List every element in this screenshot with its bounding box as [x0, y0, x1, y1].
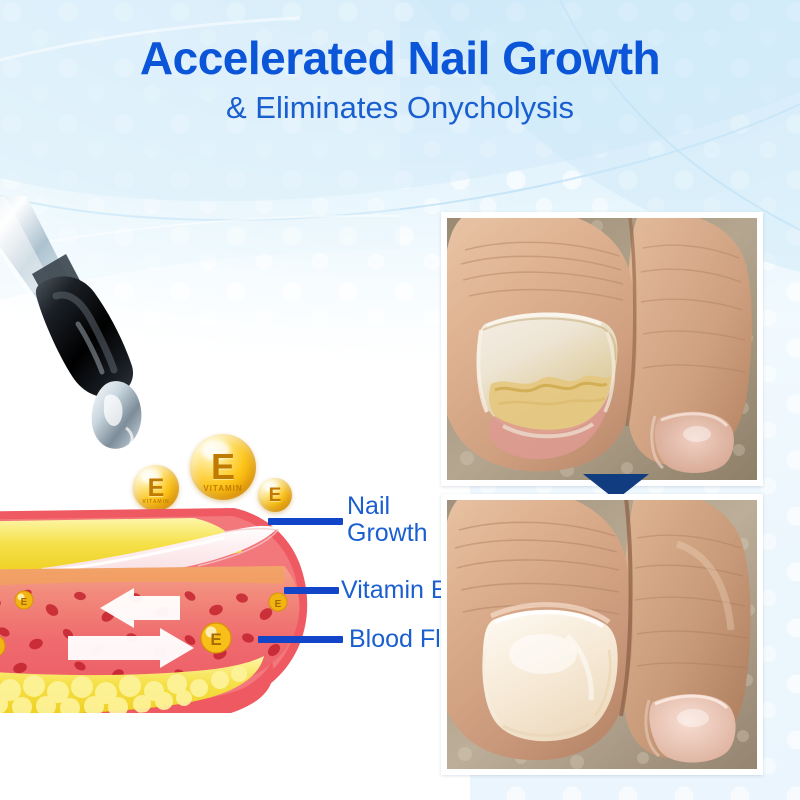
callout-label: Nail Growth	[347, 493, 428, 546]
callout-leader-line	[258, 636, 343, 643]
promo-page: Accelerated Nail Growth & Eliminates Ony…	[0, 0, 800, 800]
svg-text:E: E	[275, 599, 282, 610]
after-photo	[447, 500, 757, 769]
capsule-letter: E	[211, 449, 235, 485]
callout-label: Vitamin E	[341, 577, 448, 604]
callout-leader-line	[268, 518, 343, 525]
header: Accelerated Nail Growth & Eliminates Ony…	[0, 34, 800, 126]
after-photo-frame	[441, 494, 763, 775]
before-photo-frame	[441, 212, 763, 486]
nail-bed-cross-section: E E E E	[0, 498, 314, 713]
svg-text:E: E	[21, 597, 28, 608]
callout-nail-growth: Nail Growth	[268, 505, 428, 546]
svg-text:E: E	[210, 630, 221, 649]
before-photo	[447, 218, 757, 480]
capsule-caption: VITAMIN	[190, 484, 256, 493]
capsule-letter: E	[148, 476, 165, 501]
vitamin-e-capsule-large: E VITAMIN	[190, 434, 256, 500]
vitamin-e-capsule-medium: E VITAMIN	[133, 465, 179, 511]
page-subtitle: & Eliminates Onycholysis	[0, 90, 800, 126]
callout-leader-line	[284, 587, 339, 594]
page-title: Accelerated Nail Growth	[0, 34, 800, 82]
capsule-caption: VITAMIN	[133, 499, 179, 505]
callout-vitamin-e: Vitamin E	[284, 577, 448, 604]
capsule-letter: E	[269, 486, 282, 505]
